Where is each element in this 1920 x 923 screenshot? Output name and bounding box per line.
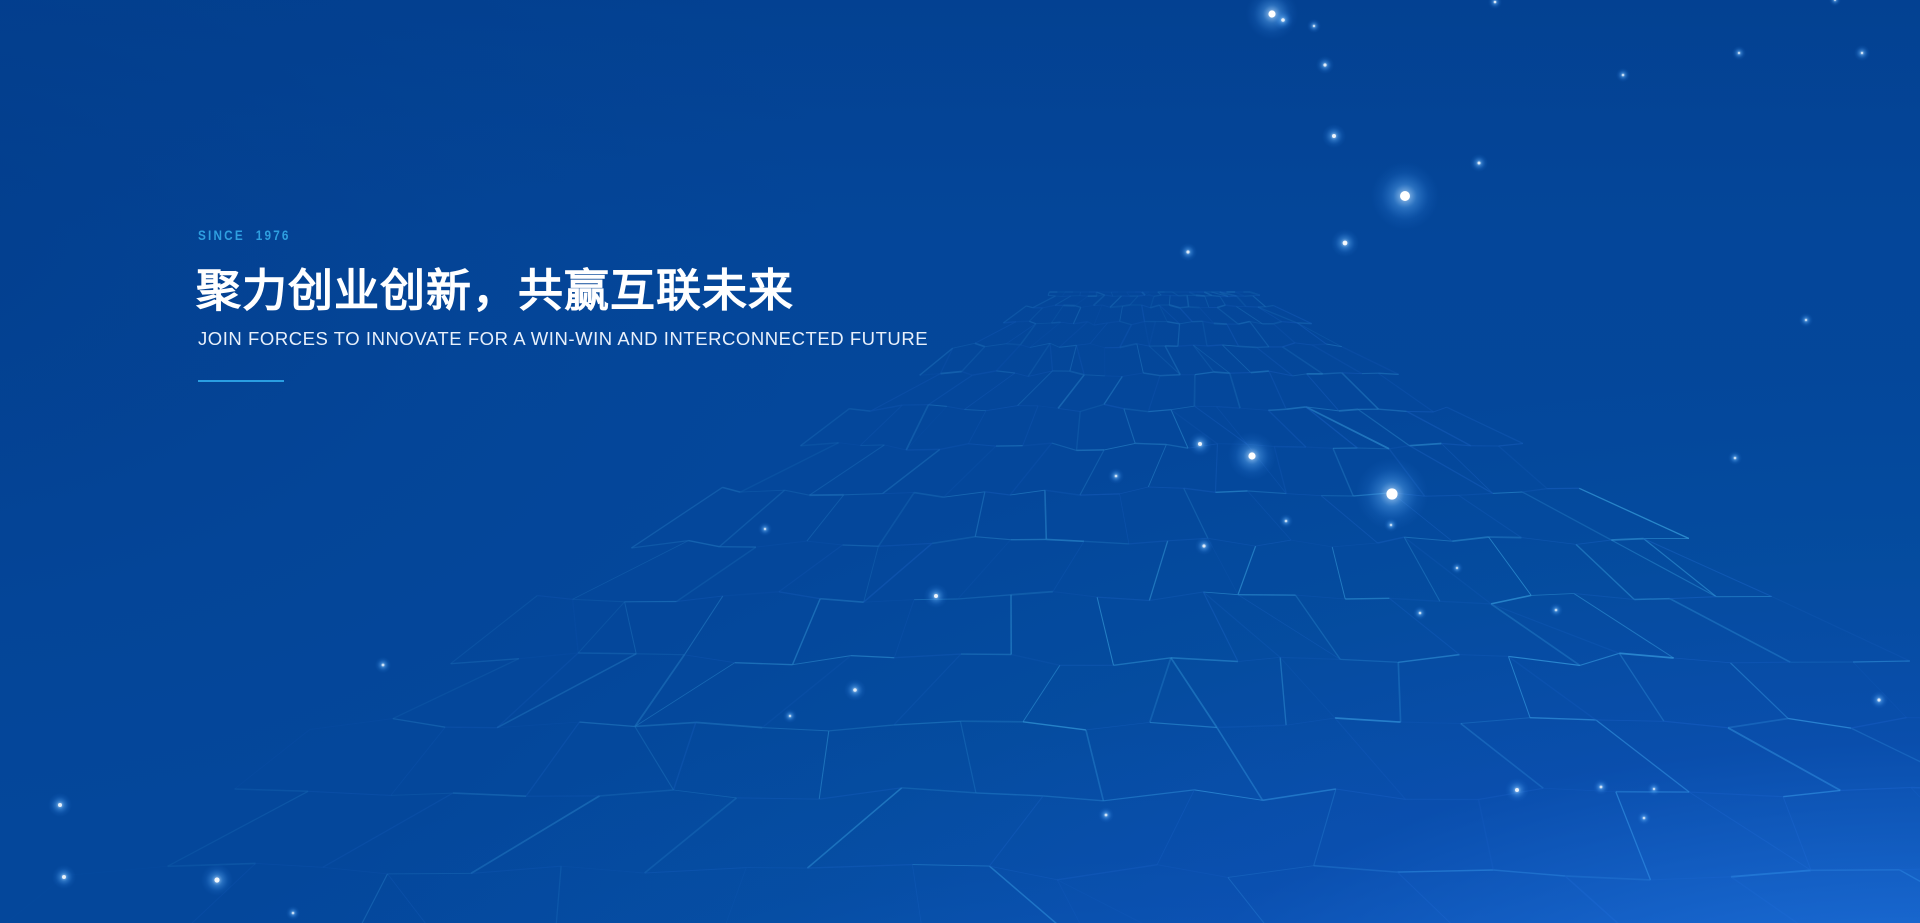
particle-dot: [1198, 442, 1202, 446]
particle-dot: [1323, 63, 1326, 66]
particle-dot: [1419, 612, 1422, 615]
particle-dot: [1600, 786, 1603, 789]
since-eyebrow-label: SINCE 1976: [198, 228, 952, 242]
particle-dot: [1494, 1, 1497, 4]
particle-dot: [1285, 520, 1288, 523]
accent-divider: [198, 380, 284, 382]
particle-dot: [214, 877, 219, 882]
particle-dot: [1248, 452, 1255, 459]
hero-banner: SINCE 1976 聚力创业创新，共赢互联未来 JOIN FORCES TO …: [0, 0, 1920, 923]
particle-dot: [1115, 475, 1118, 478]
particle-dots-layer: [0, 0, 1920, 923]
particle-dot: [1202, 544, 1205, 547]
particle-dot: [1622, 74, 1625, 77]
particle-dot: [1281, 18, 1285, 22]
particle-dot: [934, 594, 938, 598]
particle-dot: [1478, 162, 1481, 165]
particle-dot: [1734, 457, 1737, 460]
particle-dot: [1805, 319, 1807, 321]
particle-dot: [853, 688, 857, 692]
particle-dot: [1456, 567, 1458, 569]
particle-dot: [789, 715, 791, 717]
hero-content: SINCE 1976 聚力创业创新，共赢互联未来 JOIN FORCES TO …: [196, 228, 1096, 382]
particle-dot: [1186, 250, 1189, 253]
particle-dot: [1653, 788, 1655, 790]
page-title: 聚力创业创新，共赢互联未来: [196, 264, 1096, 317]
particle-dot: [1555, 609, 1558, 612]
particle-dot: [1738, 52, 1740, 54]
particle-dot: [58, 803, 62, 807]
particle-dot: [1343, 241, 1348, 246]
particle-dot: [1390, 524, 1392, 526]
particle-dot: [1313, 25, 1315, 27]
particle-dot: [1515, 788, 1519, 792]
particle-dot: [1332, 134, 1336, 138]
particle-dot: [1861, 52, 1863, 54]
page-subtitle: JOIN FORCES TO INNOVATE FOR A WIN-WIN AN…: [198, 327, 1096, 350]
particle-dot: [1386, 488, 1397, 499]
particle-dot: [382, 664, 385, 667]
particle-dot: [764, 528, 766, 530]
particle-dot: [292, 912, 295, 915]
particle-dot: [1643, 817, 1646, 820]
particle-dot: [1105, 814, 1108, 817]
particle-dot: [62, 875, 66, 879]
particle-dot: [1400, 191, 1410, 201]
particle-dot: [1877, 698, 1880, 701]
